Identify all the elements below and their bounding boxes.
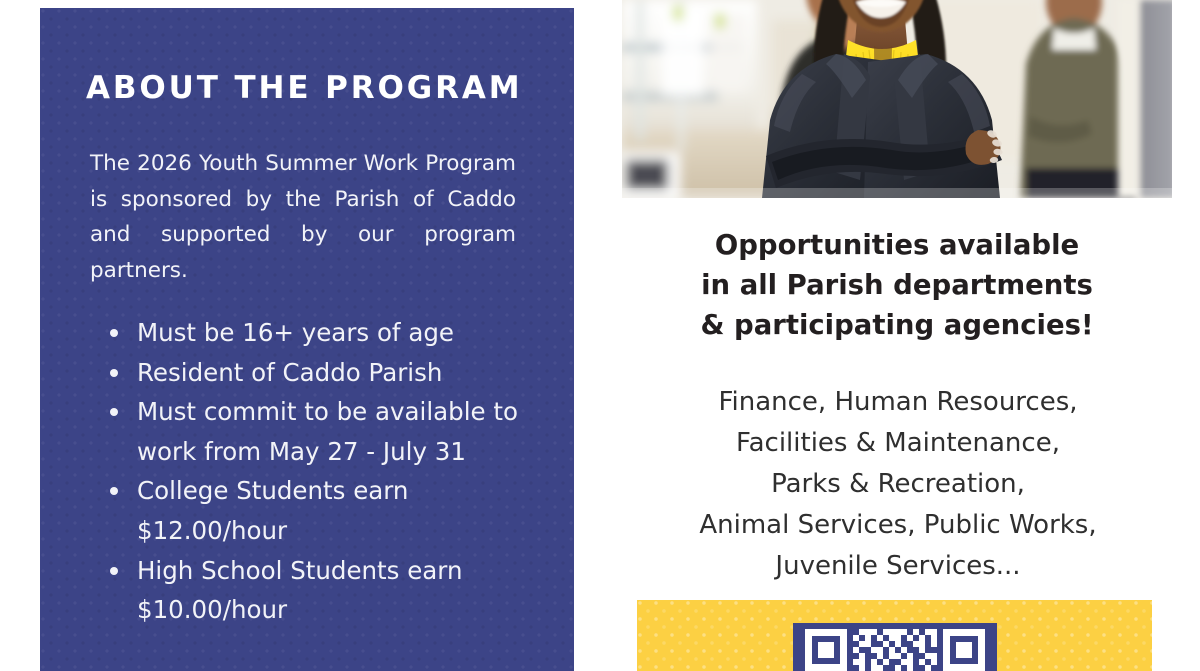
departments-list-text: Finance, Human Resources, Facilities & M…	[618, 382, 1178, 587]
opportunities-heading-line: in all Parish departments	[701, 269, 1093, 301]
flyer-page: ABOUT THE PROGRAM The 2026 Youth Summer …	[0, 0, 1200, 671]
departments-line: Parks & Recreation,	[771, 469, 1025, 499]
list-item: Resident of Caddo Parish	[102, 353, 552, 393]
qr-code[interactable]	[793, 623, 997, 671]
about-the-program-panel: ABOUT THE PROGRAM The 2026 Youth Summer …	[40, 8, 574, 671]
departments-line: Juvenile Services...	[775, 551, 1020, 581]
qr-band	[637, 600, 1152, 671]
opportunities-heading-line: & participating agencies!	[700, 309, 1093, 341]
departments-line: Finance, Human Resources,	[718, 387, 1077, 417]
about-paragraph: The 2026 Youth Summer Work Program is sp…	[90, 146, 516, 324]
opportunities-heading: Opportunities available in all Parish de…	[622, 225, 1172, 345]
list-item: Must be 16+ years of age	[102, 313, 552, 353]
list-item: Must commit to be available to work from…	[102, 392, 552, 471]
list-item: High School Students earn $10.00/hour	[102, 551, 552, 630]
about-heading: ABOUT THE PROGRAM	[86, 71, 546, 105]
opportunities-heading-line: Opportunities available	[715, 229, 1079, 261]
office-team-photo	[622, 0, 1172, 198]
departments-line: Animal Services, Public Works,	[699, 510, 1096, 540]
departments-line: Facilities & Maintenance,	[736, 428, 1060, 458]
list-item: College Students earn $12.00/hour	[102, 471, 552, 550]
requirements-list: Must be 16+ years of age Resident of Cad…	[102, 313, 552, 630]
